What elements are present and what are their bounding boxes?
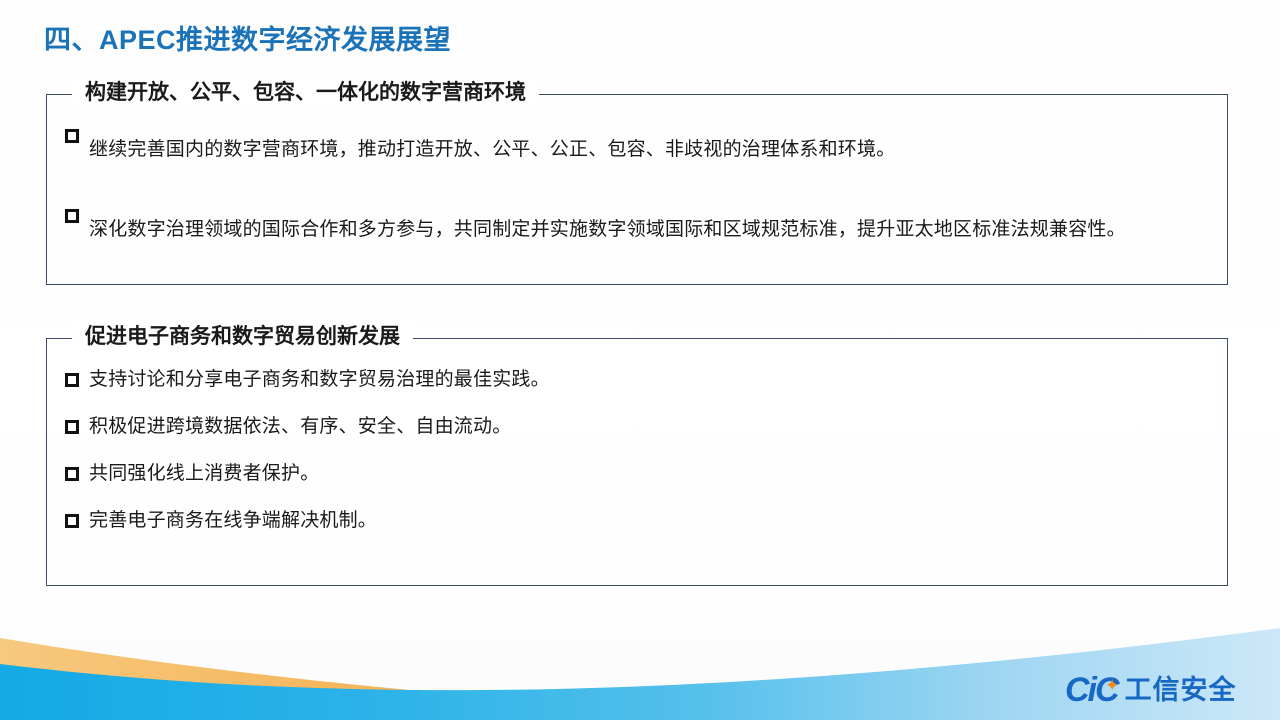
wave-orange-band [0,638,900,720]
list-item-text: 继续完善国内的数字营商环境，推动打造开放、公平、公正、包容、非歧视的治理体系和环… [89,121,1211,179]
slide-root: 四、APEC推进数字经济发展展望 构建开放、公平、包容、一体化的数字营商环境 继… [0,0,1280,720]
panel-ecommerce-digital-trade: 促进电子商务和数字贸易创新发展 支持讨论和分享电子商务和数字贸易治理的最佳实践。… [46,338,1228,586]
panel-digital-business-environment: 构建开放、公平、包容、一体化的数字营商环境 继续完善国内的数字营商环境，推动打造… [46,94,1228,285]
list-item-text: 深化数字治理领域的国际合作和多方参与，共同制定并实施数字领域国际和区域规范标准，… [89,201,1211,259]
hollow-square-bullet-icon [65,514,79,528]
hollow-square-bullet-icon [65,373,79,387]
star-icon: ✦ [1105,677,1117,694]
list-item: 积极促进跨境数据依法、有序、安全、自由流动。 [63,412,1211,442]
panel-1-body: 继续完善国内的数字营商环境，推动打造开放、公平、公正、包容、非歧视的治理体系和环… [47,95,1227,259]
list-item: 共同强化线上消费者保护。 [63,459,1211,489]
logo: CiC ✦ 工信安全 [1065,672,1237,708]
list-item-text: 支持讨论和分享电子商务和数字贸易治理的最佳实践。 [89,365,1211,395]
list-item-text: 积极促进跨境数据依法、有序、安全、自由流动。 [89,412,1211,442]
hollow-square-bullet-icon [65,209,79,223]
list-item-text: 完善电子商务在线争端解决机制。 [89,506,1211,536]
cic-logo-mark: CiC ✦ [1065,673,1118,707]
logo-wordmark: 工信安全 [1125,676,1237,704]
page-title: 四、APEC推进数字经济发展展望 [44,18,451,57]
panel-1-legend: 构建开放、公平、包容、一体化的数字营商环境 [72,79,539,107]
list-item: 深化数字治理领域的国际合作和多方参与，共同制定并实施数字领域国际和区域规范标准，… [63,201,1211,259]
panel-2-legend: 促进电子商务和数字贸易创新发展 [72,323,413,351]
hollow-square-bullet-icon [65,129,79,143]
list-item: 支持讨论和分享电子商务和数字贸易治理的最佳实践。 [63,365,1211,395]
list-item: 完善电子商务在线争端解决机制。 [63,506,1211,536]
list-item: 继续完善国内的数字营商环境，推动打造开放、公平、公正、包容、非歧视的治理体系和环… [63,121,1211,179]
hollow-square-bullet-icon [65,420,79,434]
panel-2-body: 支持讨论和分享电子商务和数字贸易治理的最佳实践。 积极促进跨境数据依法、有序、安… [47,339,1227,536]
hollow-square-bullet-icon [65,467,79,481]
list-item-text: 共同强化线上消费者保护。 [89,459,1211,489]
